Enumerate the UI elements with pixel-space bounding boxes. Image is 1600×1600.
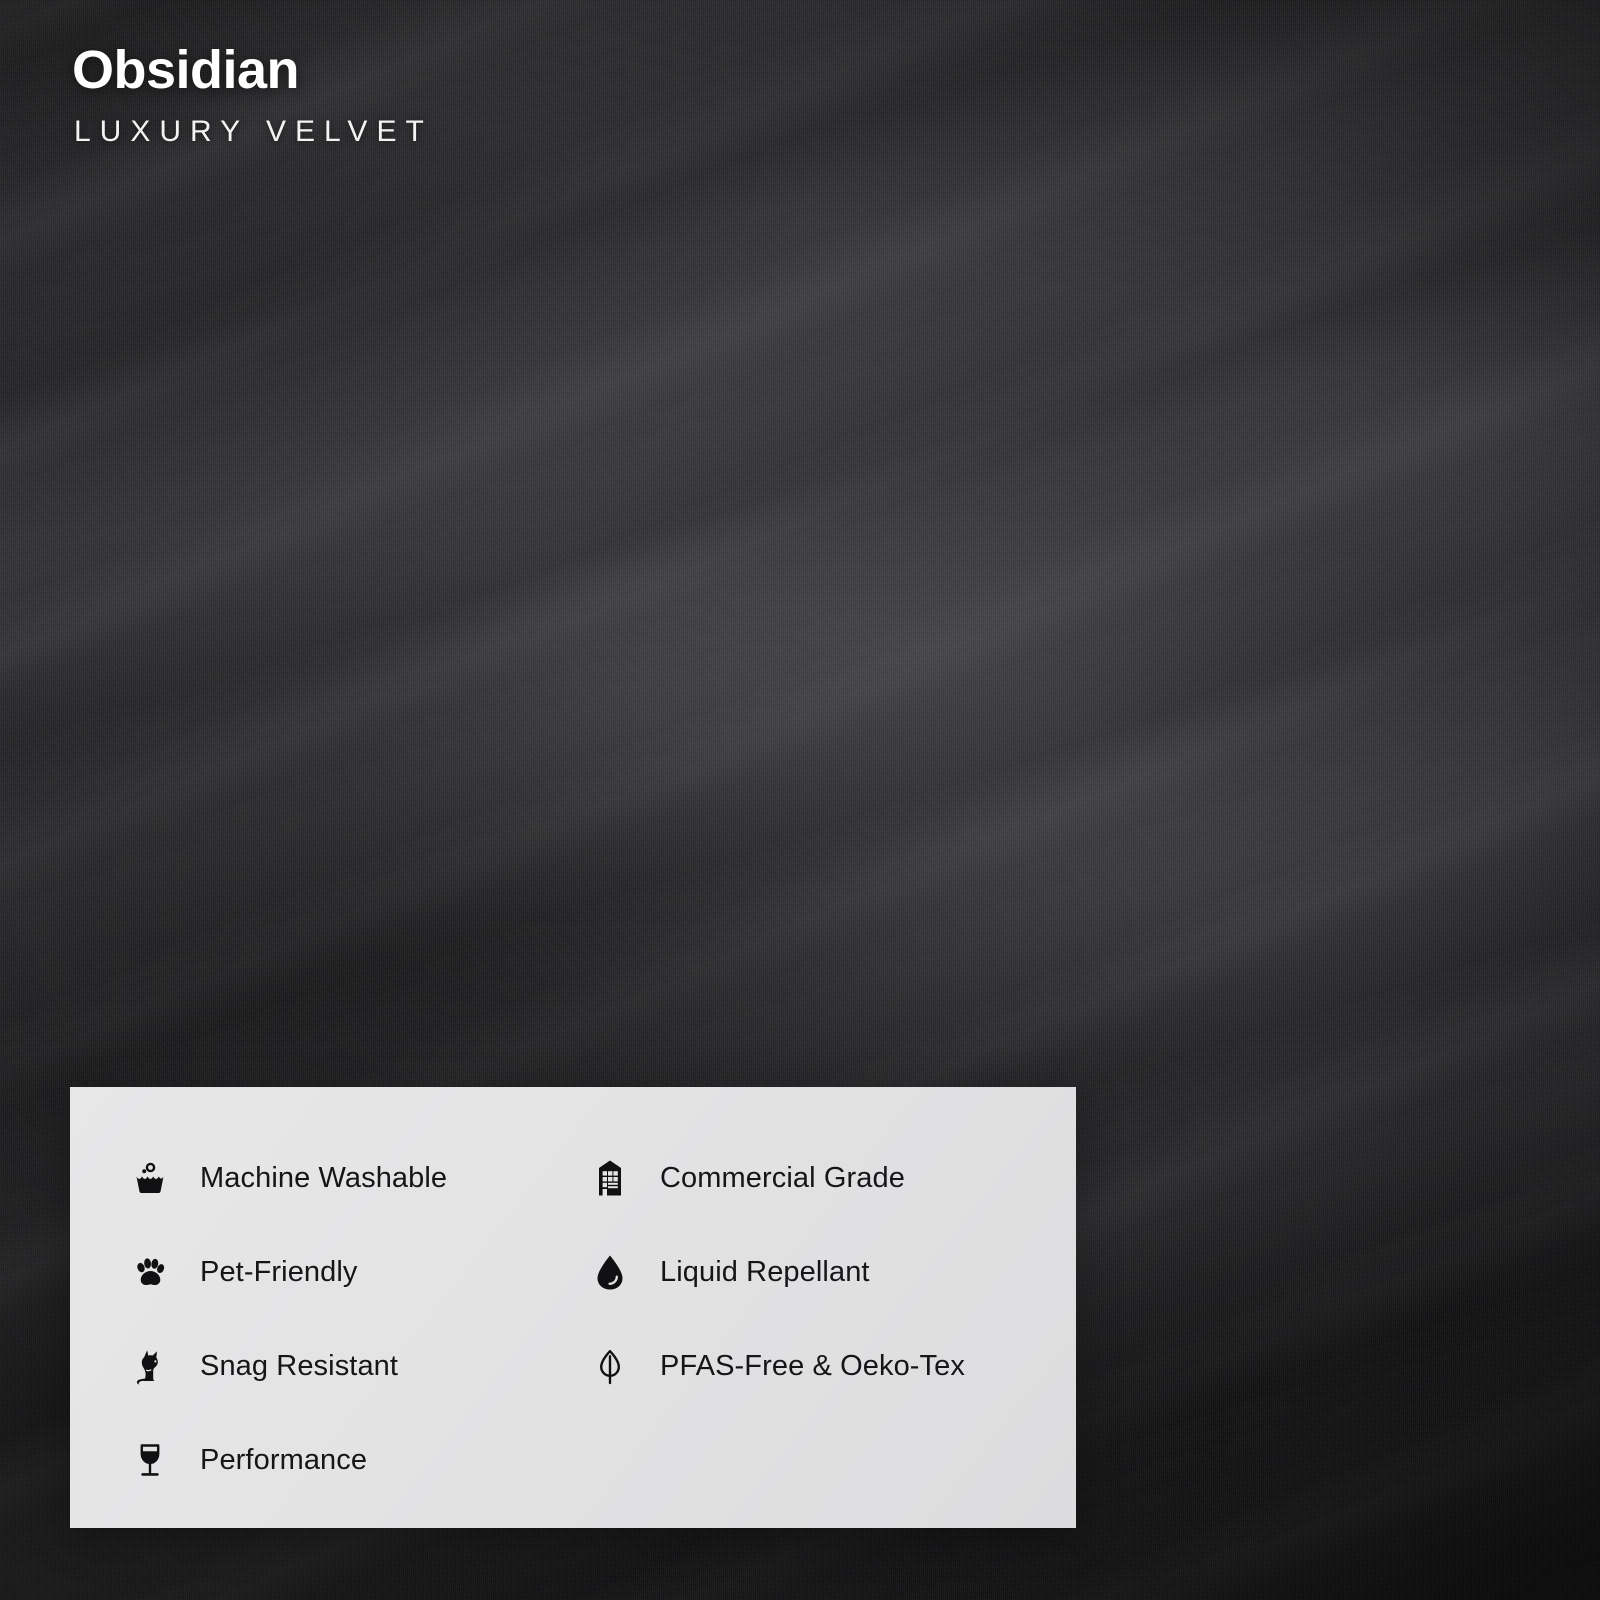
feature-item-liquid-repellant: Liquid Repellant bbox=[588, 1250, 1076, 1294]
feature-item-pfas-free-oeko-tex: PFAS-Free & Oeko-Tex bbox=[588, 1344, 1076, 1388]
wash-tub-icon bbox=[128, 1156, 172, 1200]
feature-label: Performance bbox=[200, 1444, 367, 1477]
page-subtitle: LUXURY VELVET bbox=[74, 117, 433, 147]
leaf-icon bbox=[588, 1344, 632, 1388]
page-title: Obsidian bbox=[72, 42, 433, 99]
feature-item-snag-resistant: Snag Resistant bbox=[128, 1344, 588, 1388]
feature-item-machine-washable: Machine Washable bbox=[128, 1156, 588, 1200]
wine-glass-icon bbox=[128, 1438, 172, 1482]
feature-grid: Machine Washable bbox=[70, 1131, 1076, 1507]
fabric-swatch-card: Obsidian LUXURY VELVET Machine Washable bbox=[0, 0, 1600, 1600]
feature-label: Liquid Repellant bbox=[660, 1256, 870, 1289]
header: Obsidian LUXURY VELVET bbox=[72, 42, 433, 147]
cat-icon bbox=[128, 1344, 172, 1388]
building-icon bbox=[588, 1156, 632, 1200]
feature-label: Pet-Friendly bbox=[200, 1256, 358, 1289]
feature-item-pet-friendly: Pet-Friendly bbox=[128, 1250, 588, 1294]
feature-label: Snag Resistant bbox=[200, 1350, 398, 1383]
feature-label: Commercial Grade bbox=[660, 1162, 905, 1195]
water-droplet-icon bbox=[588, 1250, 632, 1294]
feature-item-commercial-grade: Commercial Grade bbox=[588, 1156, 1076, 1200]
paw-print-icon bbox=[128, 1250, 172, 1294]
feature-item-performance: Performance bbox=[128, 1438, 588, 1482]
feature-label: Machine Washable bbox=[200, 1162, 447, 1195]
feature-panel: Machine Washable bbox=[70, 1087, 1076, 1528]
feature-label: PFAS-Free & Oeko-Tex bbox=[660, 1350, 965, 1383]
